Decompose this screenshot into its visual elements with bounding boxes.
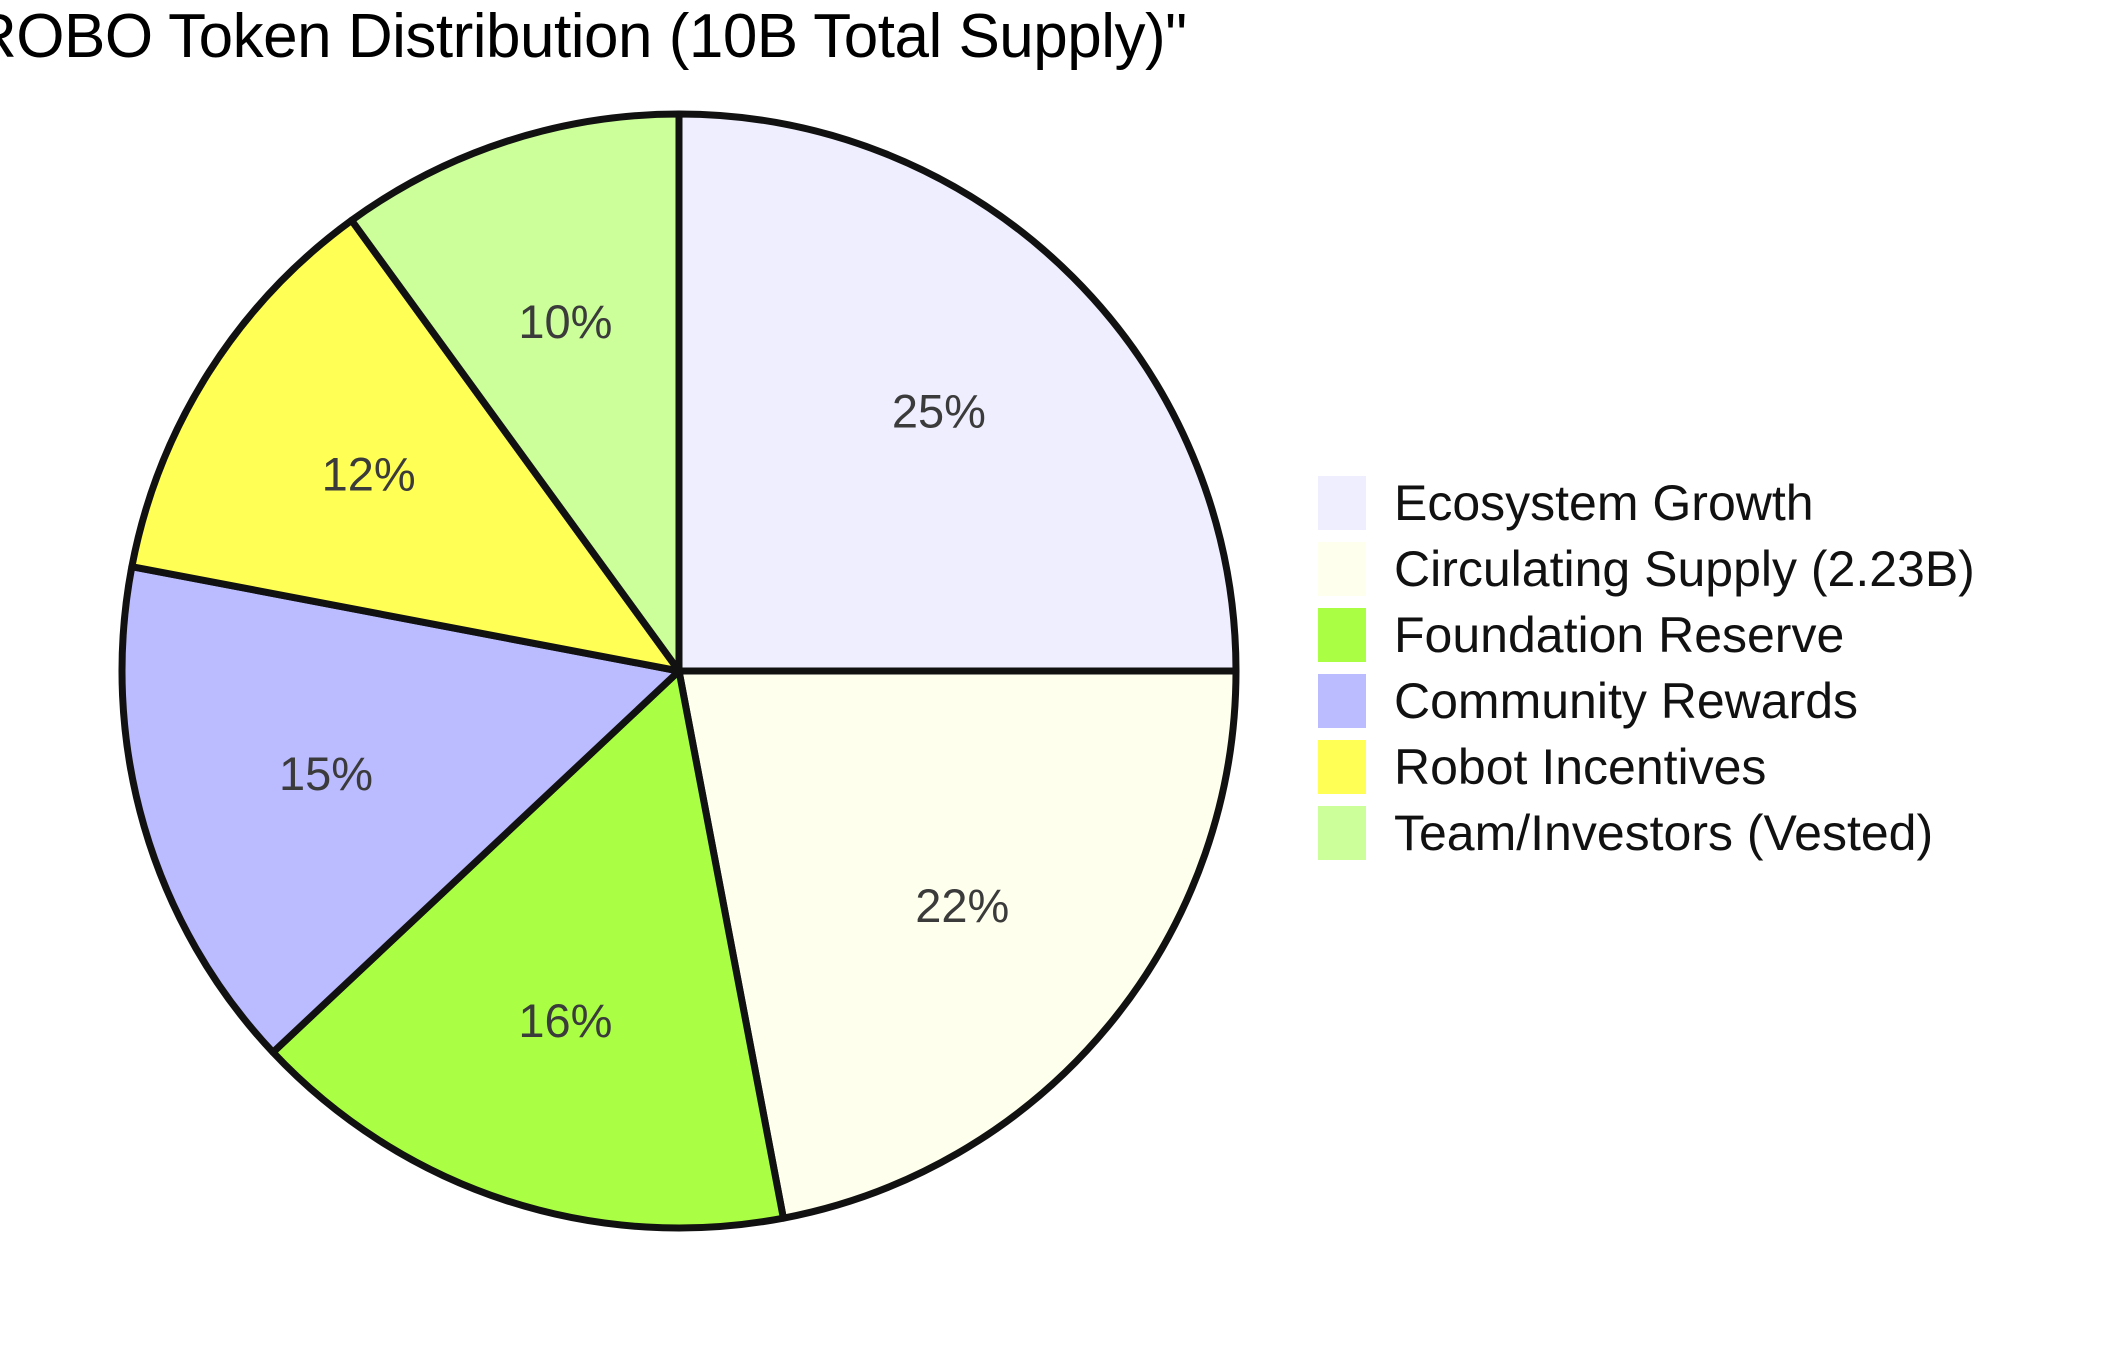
legend-item[interactable]: Team/Investors (Vested) (1318, 800, 1933, 866)
legend-color-swatch (1318, 740, 1366, 794)
legend: Ecosystem GrowthCirculating Supply (2.23… (1318, 470, 1975, 866)
pie-slice-value-label: 12% (322, 448, 416, 501)
pie-slices (122, 114, 1236, 1228)
pie-slice-value-label: 10% (518, 295, 612, 348)
legend-item-label: Robot Incentives (1394, 742, 1766, 792)
legend-item[interactable]: Ecosystem Growth (1318, 470, 1814, 536)
legend-item[interactable]: Foundation Reserve (1318, 602, 1844, 668)
legend-color-swatch (1318, 674, 1366, 728)
pie-slice-value-label: 16% (518, 994, 612, 1047)
legend-item-label: Community Rewards (1394, 676, 1858, 726)
legend-color-swatch (1318, 476, 1366, 530)
legend-color-swatch (1318, 806, 1366, 860)
legend-item[interactable]: Circulating Supply (2.23B) (1318, 536, 1975, 602)
legend-color-swatch (1318, 542, 1366, 596)
pie-slice-value-label: 15% (279, 747, 373, 800)
legend-item[interactable]: Community Rewards (1318, 668, 1858, 734)
legend-item[interactable]: Robot Incentives (1318, 734, 1766, 800)
legend-item-label: Foundation Reserve (1394, 610, 1844, 660)
pie-chart: 25%22%16%15%12%10% (118, 110, 1240, 1232)
legend-item-label: Team/Investors (Vested) (1394, 808, 1933, 858)
pie-chart-svg: 25%22%16%15%12%10% (118, 110, 1240, 1232)
chart-canvas: ROBO Token Distribution (10B Total Suppl… (0, 0, 2122, 1350)
legend-item-label: Circulating Supply (2.23B) (1394, 544, 1975, 594)
legend-color-swatch (1318, 608, 1366, 662)
page-title: ROBO Token Distribution (10B Total Suppl… (0, 6, 1187, 68)
legend-item-label: Ecosystem Growth (1394, 478, 1814, 528)
pie-slice-value-label: 25% (892, 385, 986, 438)
pie-slice-value-label: 22% (915, 879, 1009, 932)
